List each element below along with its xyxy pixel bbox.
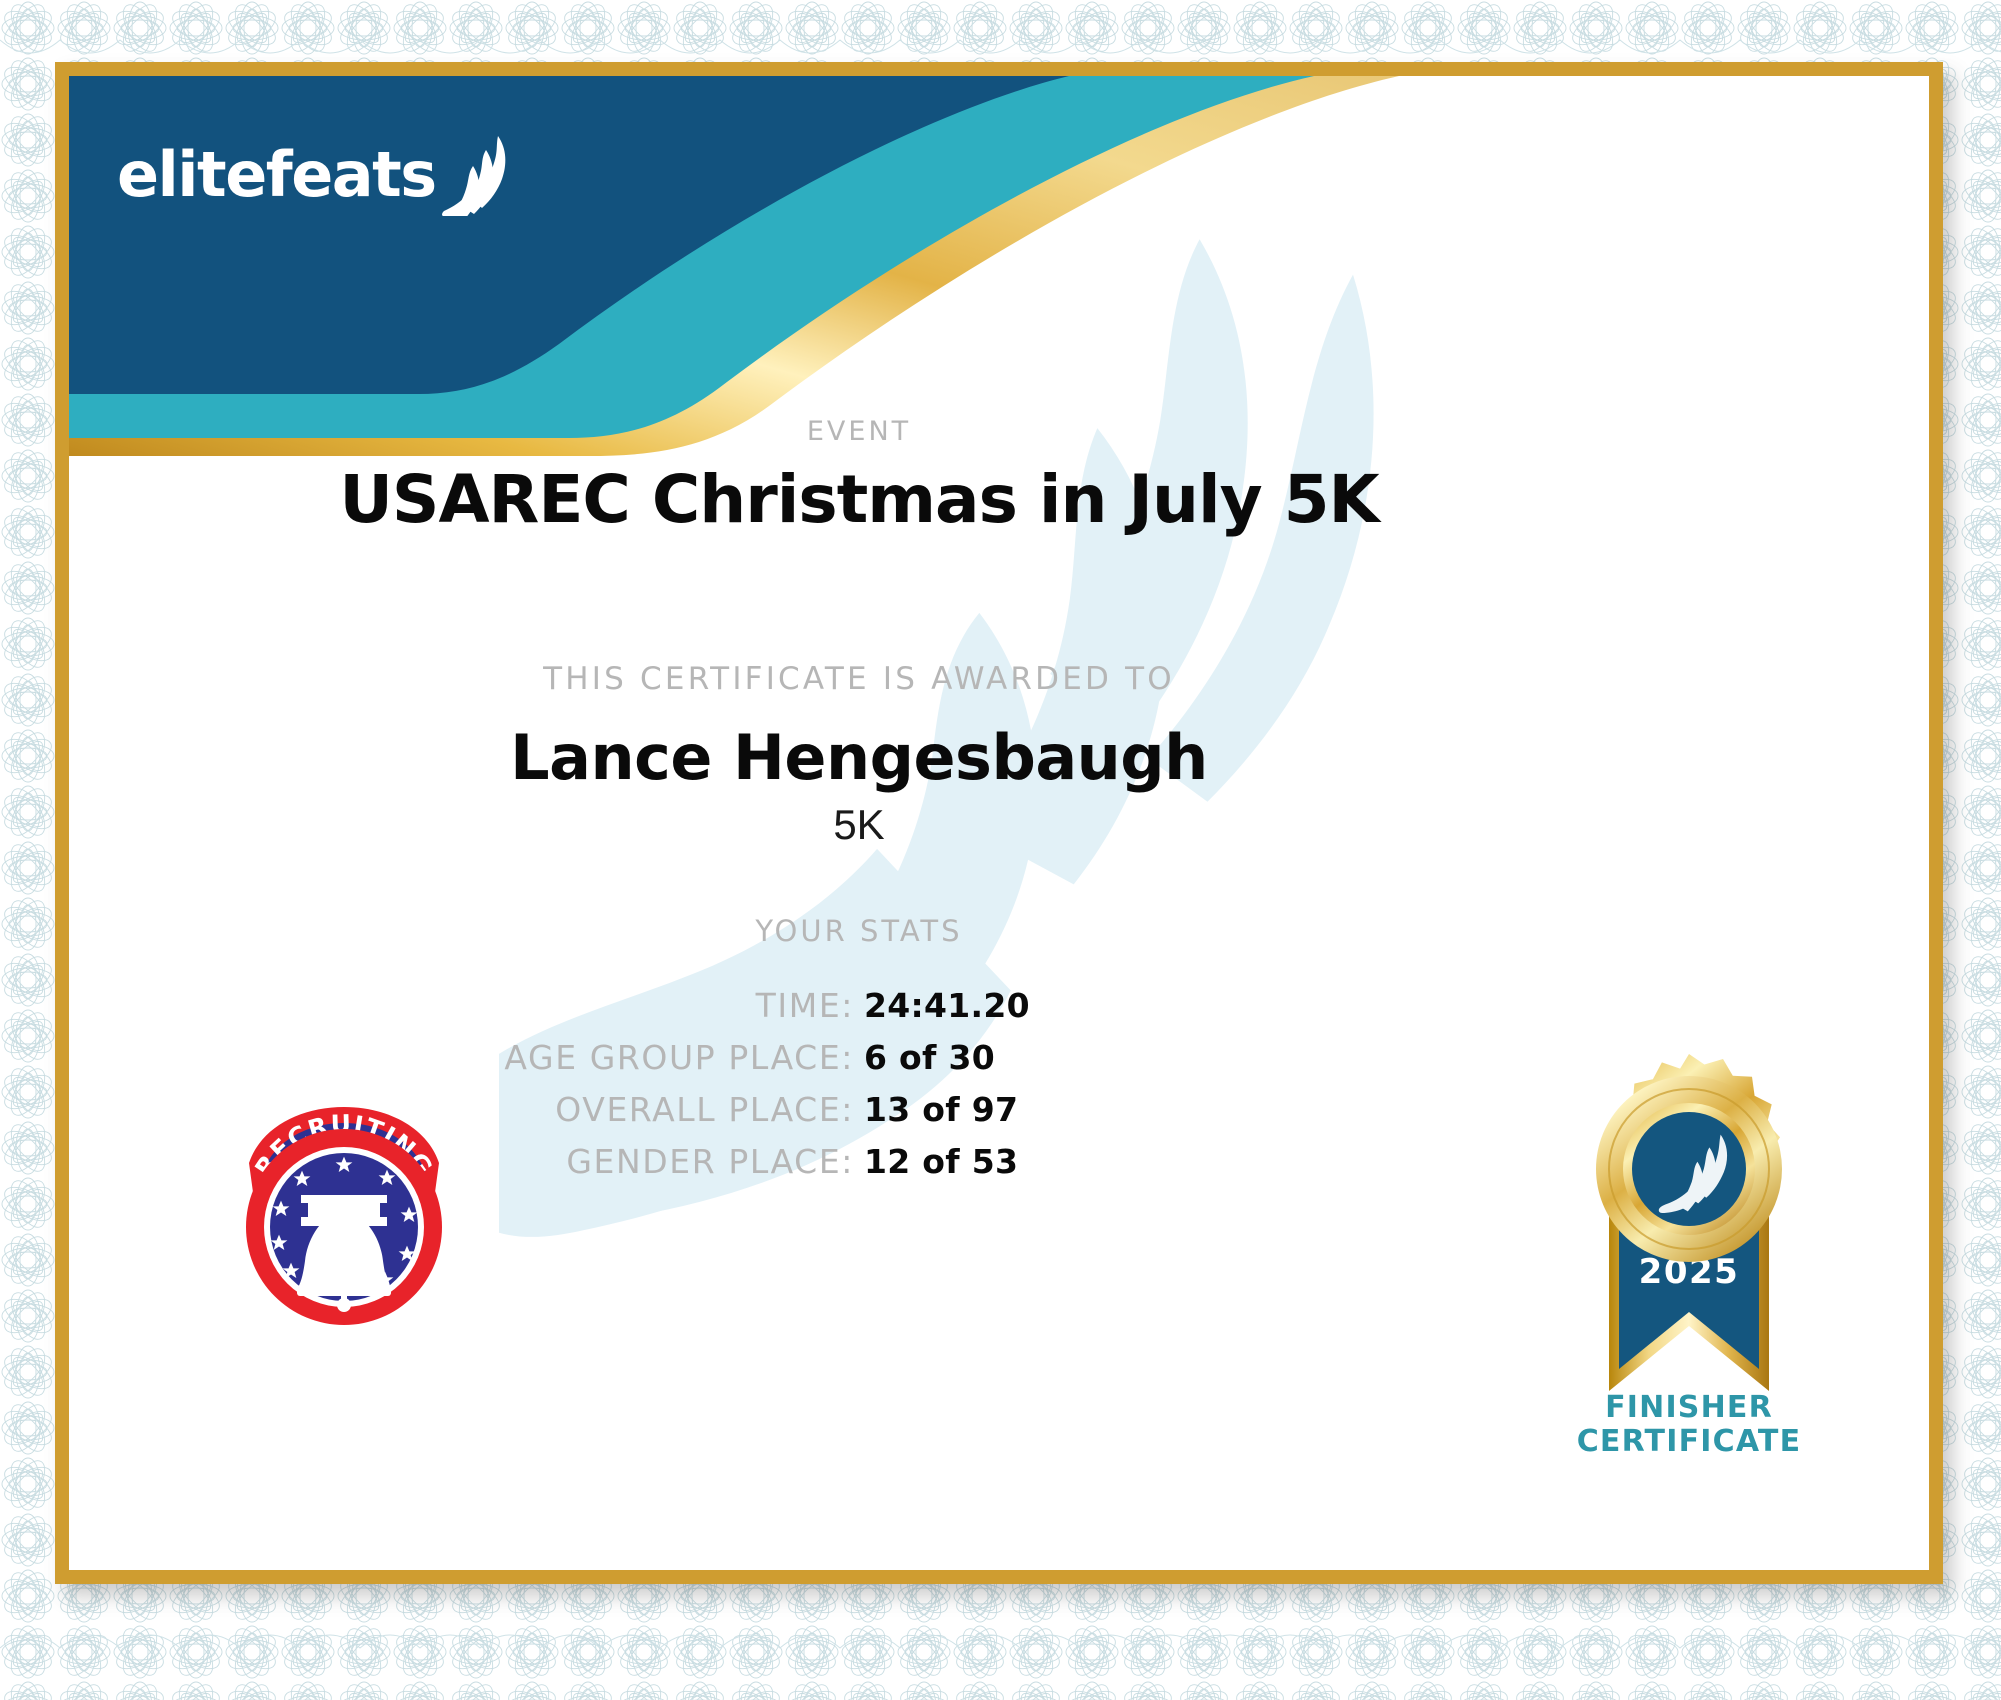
recipient-name: Lance Hengesbaugh bbox=[69, 721, 1649, 794]
finisher-caption-line2: CERTIFICATE bbox=[1524, 1425, 1854, 1459]
race-distance: 5K bbox=[69, 801, 1649, 849]
certificate-inner: elitefeats EVENT USAREC Christmas in Jul… bbox=[69, 76, 1929, 1570]
stat-label-time: TIME: bbox=[324, 986, 864, 1025]
event-label: EVENT bbox=[69, 416, 1649, 447]
stat-row-age-group-place: AGE GROUP PLACE: 6 of 30 bbox=[69, 1038, 1649, 1090]
stat-value-gender-place: 12 of 53 bbox=[864, 1142, 1394, 1181]
certificate-content: EVENT USAREC Christmas in July 5K THIS C… bbox=[69, 76, 1929, 1570]
stat-value-age-group-place: 6 of 30 bbox=[864, 1038, 1394, 1077]
stat-row-time: TIME: 24:41.20 bbox=[69, 986, 1649, 1038]
stat-label-age-group-place: AGE GROUP PLACE: bbox=[324, 1038, 864, 1077]
your-stats-label: YOUR STATS bbox=[69, 914, 1649, 948]
certificate-page: elitefeats EVENT USAREC Christmas in Jul… bbox=[0, 0, 2001, 1700]
liberty-bell-icon bbox=[297, 1195, 391, 1312]
awarded-to-label: THIS CERTIFICATE IS AWARDED TO bbox=[69, 661, 1649, 697]
finisher-medal: 2025 bbox=[1524, 1051, 1854, 1471]
finisher-caption-line1: FINISHER bbox=[1524, 1391, 1854, 1425]
certificate-card: elitefeats EVENT USAREC Christmas in Jul… bbox=[55, 62, 1943, 1584]
medal-graphic: 2025 bbox=[1524, 1051, 1854, 1401]
event-title: USAREC Christmas in July 5K bbox=[69, 461, 1649, 538]
finisher-certificate-caption: FINISHER CERTIFICATE bbox=[1524, 1391, 1854, 1459]
stat-value-overall-place: 13 of 97 bbox=[864, 1090, 1394, 1129]
medal-disc bbox=[1596, 1054, 1782, 1262]
usarec-recruiting-badge: RECRUITING bbox=[219, 1091, 469, 1341]
stat-value-time: 24:41.20 bbox=[864, 986, 1394, 1025]
